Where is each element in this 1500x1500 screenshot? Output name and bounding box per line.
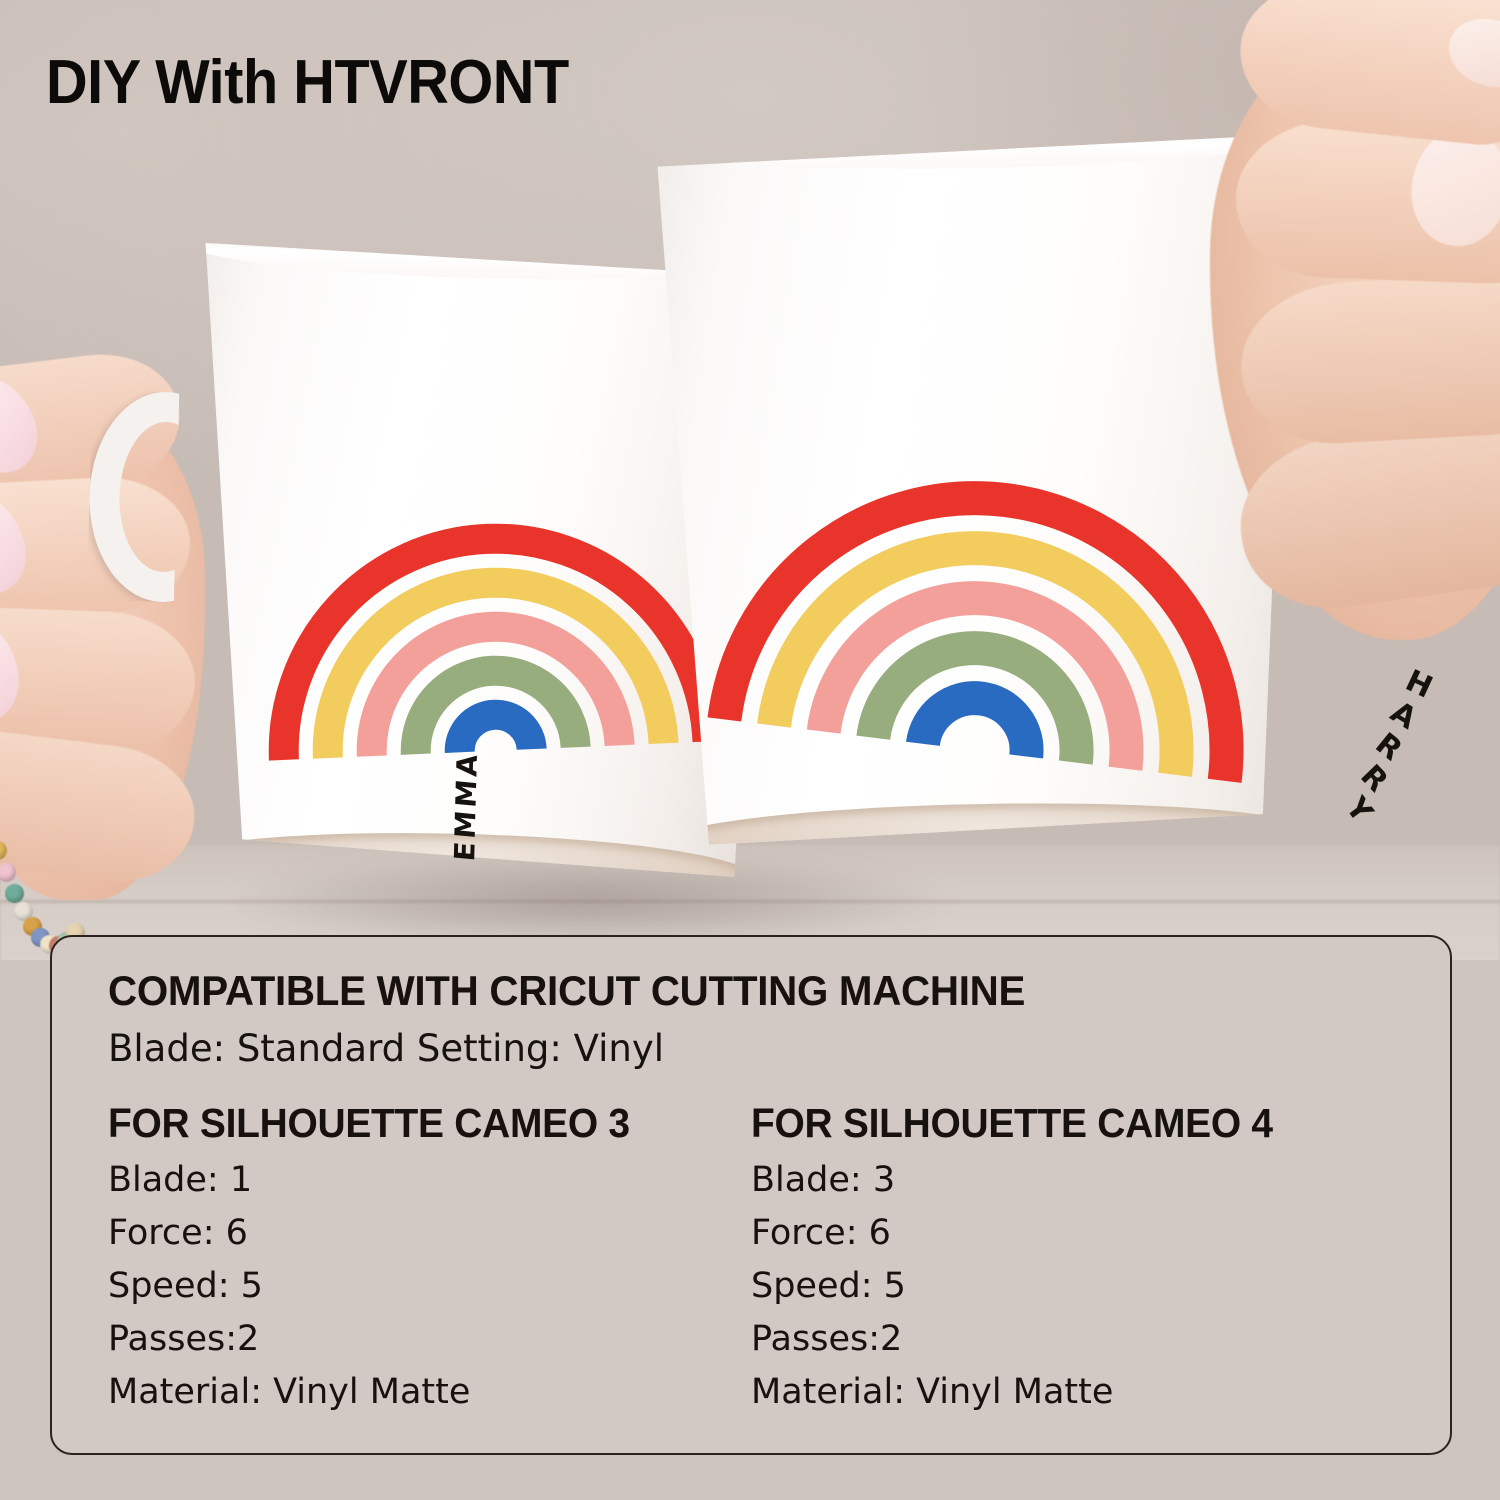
spec-blade: Blade: 1	[108, 1160, 751, 1200]
spec-force: Force: 6	[751, 1213, 1394, 1253]
spec-material: Material: Vinyl Matte	[108, 1372, 751, 1412]
spec-columns: FOR SILHOUETTE CAMEO 3 Blade: 1 Force: 6…	[108, 1100, 1394, 1412]
spec-column-cameo-3: FOR SILHOUETTE CAMEO 3 Blade: 1 Force: 6…	[108, 1100, 751, 1412]
spec-column-cameo-4: FOR SILHOUETTE CAMEO 4 Blade: 3 Force: 6…	[751, 1100, 1394, 1412]
spec-blade: Blade: 3	[751, 1160, 1394, 1200]
bracelet-bead	[5, 884, 24, 903]
page-title: DIY With HTVRONT	[46, 52, 569, 114]
compatible-subtitle: Blade: Standard Setting: Vinyl	[108, 1027, 1394, 1070]
spec-material: Material: Vinyl Matte	[751, 1372, 1394, 1412]
product-photo: EMMA HARRY	[0, 0, 1500, 960]
right-hand	[1120, 0, 1500, 660]
spec-column-heading: FOR SILHOUETTE CAMEO 3	[108, 1100, 719, 1147]
spec-column-heading: FOR SILHOUETTE CAMEO 4	[751, 1100, 1362, 1147]
bracelet-bead	[0, 841, 7, 860]
compatibility-info-panel: COMPATIBLE WITH CRICUT CUTTING MACHINE B…	[50, 935, 1452, 1455]
spec-passes: Passes:2	[751, 1319, 1394, 1359]
spec-speed: Speed: 5	[751, 1266, 1394, 1306]
beaded-bracelet	[0, 835, 100, 945]
spec-passes: Passes:2	[108, 1319, 751, 1359]
bracelet-bead	[0, 863, 16, 882]
mug-emma-name-label: EMMA	[448, 750, 484, 863]
spec-speed: Speed: 5	[108, 1266, 751, 1306]
compatible-title: COMPATIBLE WITH CRICUT CUTTING MACHINE	[108, 967, 1343, 1015]
spec-force: Force: 6	[108, 1213, 751, 1253]
